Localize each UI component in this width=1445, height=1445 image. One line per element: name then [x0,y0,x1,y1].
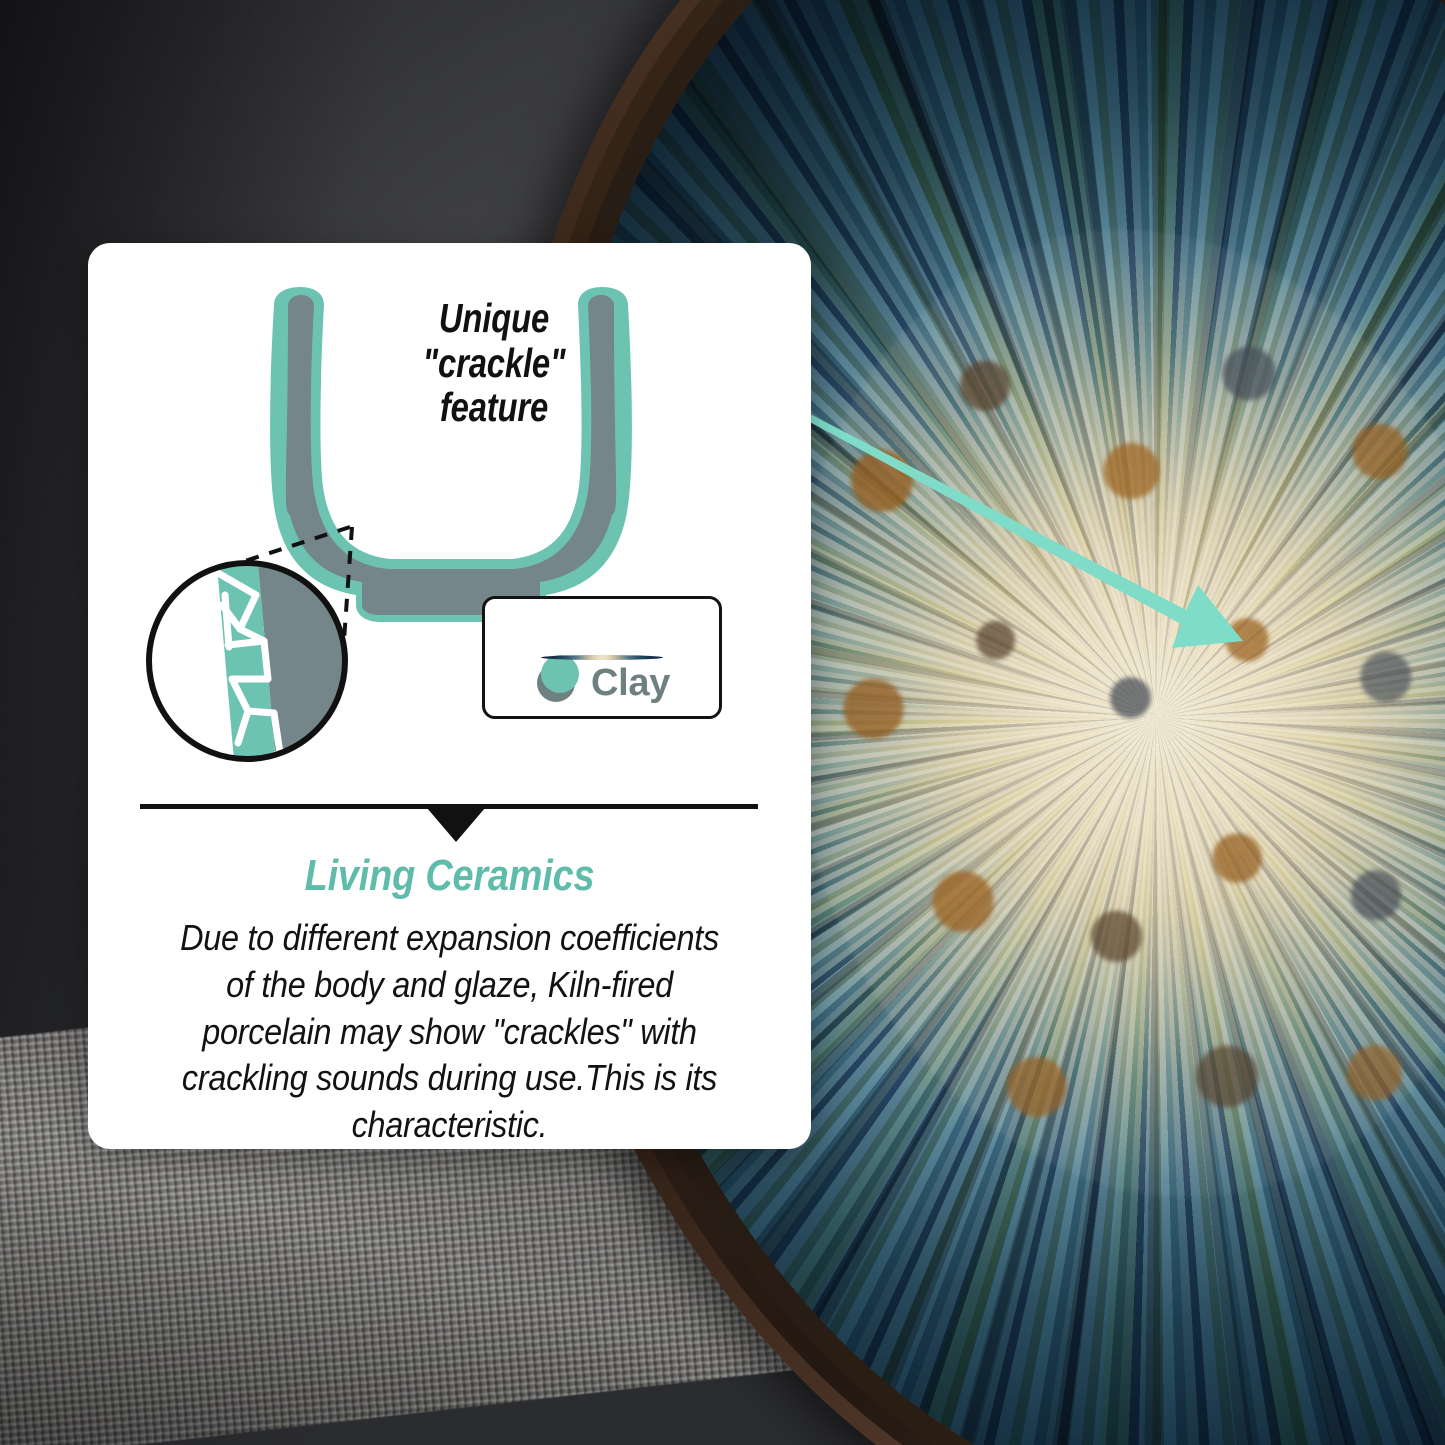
legend-item-glaze: Glaze [537,611,719,659]
infographic-canvas: Unique "crackle" feature Glaze Clay Livi… [0,0,1445,1445]
section-body-text: Due to different expansion coefficients … [164,915,736,1149]
info-card: Unique "crackle" feature Glaze Clay Livi… [88,243,811,1149]
section-subtitle: Living Ceramics [139,851,761,901]
legend-label-clay: Clay [591,662,670,705]
glaze-swatch-icon [541,655,579,693]
card-heading: Unique "crackle" feature [406,296,582,430]
divider-triangle-icon [427,808,485,842]
cross-section-diagram: Unique "crackle" feature Glaze Clay [88,243,811,803]
legend-label-glaze: Glaze [541,655,663,660]
legend-box: Glaze Clay [482,596,722,719]
